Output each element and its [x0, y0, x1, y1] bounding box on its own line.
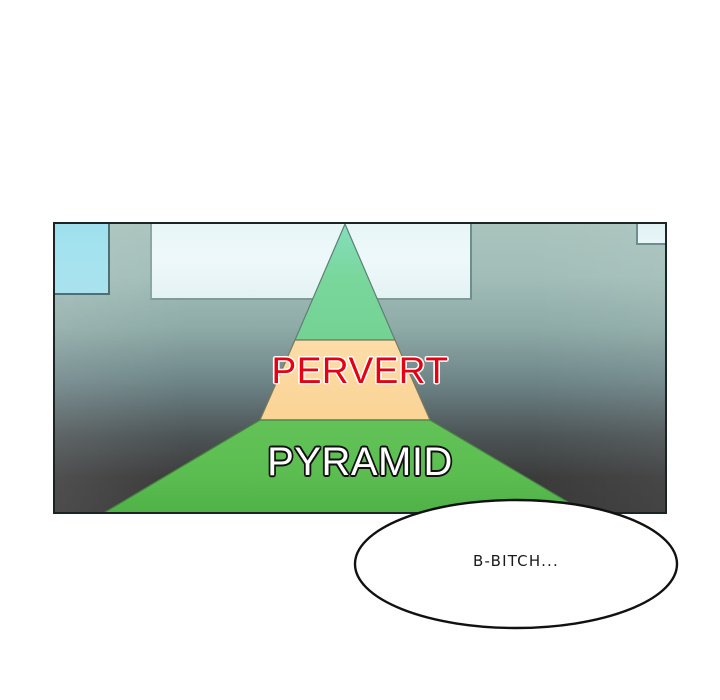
page-root: PERVERT PYRAMID B-BITCH...: [0, 0, 720, 700]
speech-balloon-text: B-BITCH...: [352, 552, 680, 570]
comic-panel: [53, 222, 667, 514]
pyramid-graphic: [55, 224, 667, 514]
pyramid-band-top: [295, 224, 395, 340]
speech-balloon: B-BITCH...: [352, 498, 680, 630]
pyramid-band-middle: [260, 340, 430, 420]
